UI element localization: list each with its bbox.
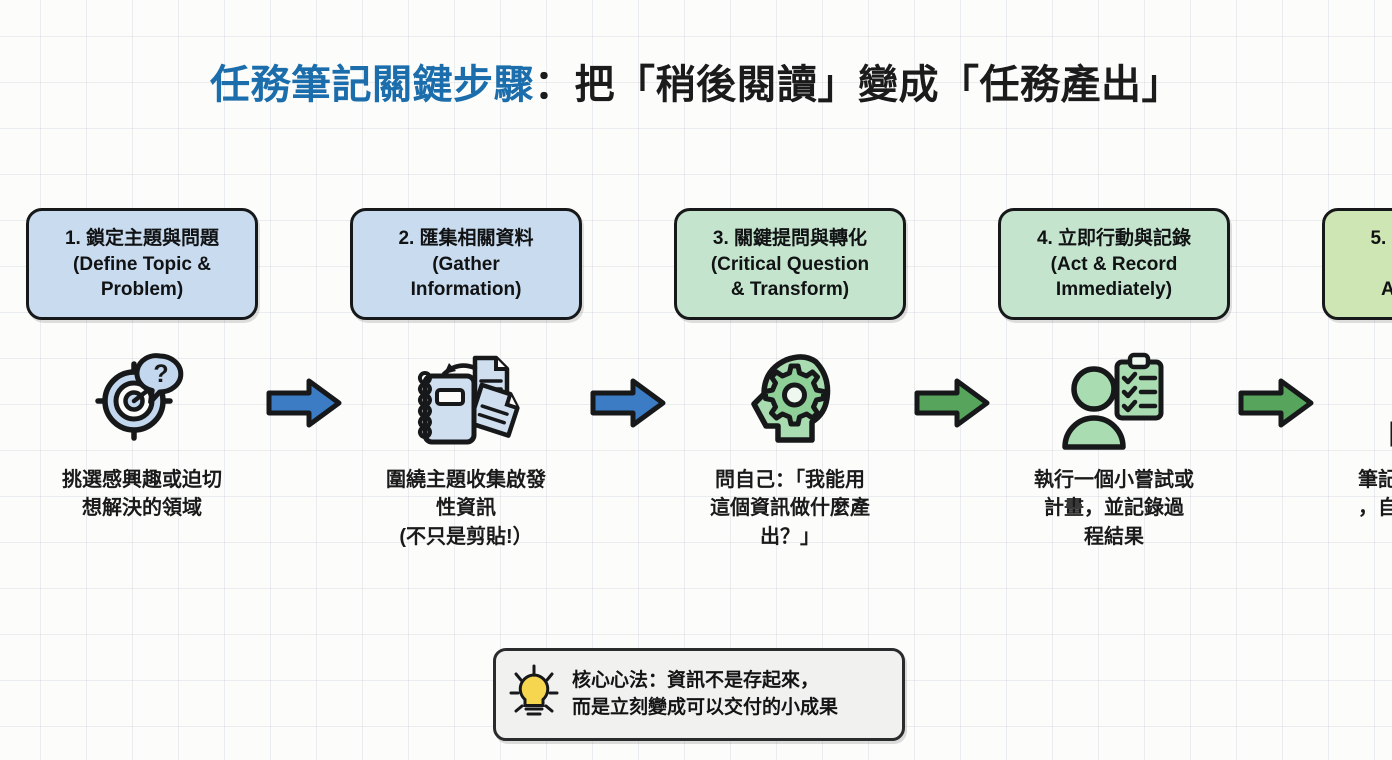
step-4-caption-line3: 程結果	[998, 523, 1230, 551]
core-principle-callout: 核心心法：資訊不是存起來， 而是立刻變成可以交付的小成果	[493, 648, 905, 741]
step-4-box[interactable]: 4. 立即行動與記錄 (Act & Record Immediately)	[998, 208, 1230, 320]
step-3-caption: 問自己：「我能用 這個資訊做什麼產 出？」	[674, 466, 906, 551]
page-title: 任務筆記關鍵步驟：把「稍後閱讀」變成「任務產出」	[0, 52, 1392, 110]
step-1-icon-slot: ?	[90, 346, 194, 454]
notebook-documents-icon	[412, 350, 520, 450]
arrow-1-to-2	[265, 376, 343, 430]
step-5-title-en-line1: (Iterate &	[1370, 252, 1392, 277]
step-3-icon-slot	[742, 346, 838, 454]
core-principle-text: 核心心法：資訊不是存起來， 而是立刻變成可以交付的小成果	[572, 668, 838, 722]
step-2-caption-line3: (不只是剪貼!）	[350, 523, 582, 551]
core-principle-line1: 核心心法：資訊不是存起來，	[572, 668, 838, 695]
lightbulb-icon	[508, 663, 560, 726]
arrow-3-to-4-slot	[906, 208, 998, 430]
step-2-box[interactable]: 2. 匯集相關資料 (Gather Information)	[350, 208, 582, 320]
arrow-3-to-4	[913, 376, 991, 430]
step-1-caption: 挑選感興趣或迫切 想解決的領域	[26, 466, 258, 523]
step-4-caption-line2: 計畫，並記錄過	[998, 494, 1230, 522]
person-checklist-icon	[1062, 350, 1166, 450]
step-5: 5. 反覆累積成果 (Iterate & Accumulate) 筆記成為成果清…	[1322, 208, 1392, 523]
step-3-caption-line2: 這個資訊做什麼產	[674, 494, 906, 522]
step-5-icon-slot	[1388, 346, 1392, 454]
step-2-caption-line2: 性資訊	[350, 494, 582, 522]
step-5-box[interactable]: 5. 反覆累積成果 (Iterate & Accumulate)	[1322, 208, 1392, 320]
step-4-title-cn: 4. 立即行動與記錄	[1037, 226, 1191, 251]
step-3: 3. 關鍵提問與轉化 (Critical Question & Transfor…	[674, 208, 906, 551]
infographic-canvas: 任務筆記關鍵步驟：把「稍後閱讀」變成「任務產出」 1. 鎖定主題與問題 (Def…	[0, 0, 1392, 760]
step-1-caption-line1: 挑選感興趣或迫切	[26, 466, 258, 494]
step-3-caption-line1: 問自己：「我能用	[674, 466, 906, 494]
step-3-box[interactable]: 3. 關鍵提問與轉化 (Critical Question & Transfor…	[674, 208, 906, 320]
step-4-title-en-line2: Immediately)	[1037, 277, 1191, 302]
head-gear-icon	[742, 350, 838, 450]
step-1-box[interactable]: 1. 鎖定主題與問題 (Define Topic & Problem)	[26, 208, 258, 320]
svg-text:?: ?	[153, 360, 168, 388]
arrow-4-to-5-slot	[1230, 208, 1322, 430]
step-1-title-en-line2: Problem)	[65, 277, 219, 302]
step-4-icon-slot	[1062, 346, 1166, 454]
step-1: 1. 鎖定主題與問題 (Define Topic & Problem)	[26, 208, 258, 523]
page-title-rest: ：把「稍後閱讀」變成「任務產出」	[534, 63, 1182, 107]
step-5-caption-line2: ，自然形成大目標	[1322, 494, 1392, 522]
steps-row: 1. 鎖定主題與問題 (Define Topic & Problem)	[26, 208, 1366, 551]
target-question-icon: ?	[90, 350, 194, 450]
step-5-title-cn: 5. 反覆累積成果	[1370, 226, 1392, 251]
step-2-caption-line1: 圍繞主題收集啟發	[350, 466, 582, 494]
step-1-caption-line2: 想解決的領域	[26, 494, 258, 522]
step-5-caption-line1: 筆記成為成果清單	[1322, 466, 1392, 494]
arrow-4-to-5	[1237, 376, 1315, 430]
core-principle-line2: 而是立刻變成可以交付的小成果	[572, 695, 838, 722]
step-4: 4. 立即行動與記錄 (Act & Record Immediately)	[998, 208, 1230, 551]
step-4-title-en-line1: (Act & Record	[1037, 252, 1191, 277]
step-4-caption-line1: 執行一個小嘗試或	[998, 466, 1230, 494]
step-3-title-cn: 3. 關鍵提問與轉化	[711, 226, 869, 251]
step-2: 2. 匯集相關資料 (Gather Information)	[350, 208, 582, 551]
arrow-2-to-3	[589, 376, 667, 430]
step-4-caption: 執行一個小嘗試或 計畫，並記錄過 程結果	[998, 466, 1230, 551]
step-3-title-en-line2: & Transform)	[711, 277, 869, 302]
step-3-title-en-line1: (Critical Question	[711, 252, 869, 277]
step-1-title-en-line1: (Define Topic &	[65, 252, 219, 277]
step-3-caption-line3: 出？」	[674, 523, 906, 551]
step-5-title-en-line2: Accumulate)	[1370, 277, 1392, 302]
arrow-2-to-3-slot	[582, 208, 674, 430]
step-2-icon-slot	[412, 346, 520, 454]
step-2-title-en-line2: Information)	[398, 277, 533, 302]
step-2-title-cn: 2. 匯集相關資料	[398, 226, 533, 251]
step-2-caption: 圍繞主題收集啟發 性資訊 (不只是剪貼!）	[350, 466, 582, 551]
step-2-title-en-line1: (Gather	[398, 252, 533, 277]
page-title-highlight: 任務筆記關鍵步驟	[210, 63, 534, 107]
step-1-title-cn: 1. 鎖定主題與問題	[65, 226, 219, 251]
arrow-1-to-2-slot	[258, 208, 350, 430]
step-5-caption: 筆記成為成果清單 ，自然形成大目標	[1322, 466, 1392, 523]
growth-chart-arrow-icon	[1388, 350, 1392, 450]
